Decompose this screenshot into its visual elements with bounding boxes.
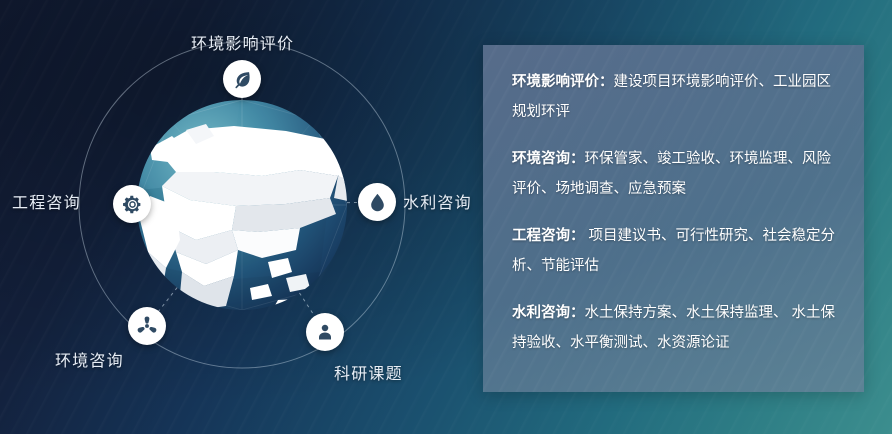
services-description-panel: 环境影响评价：建设项目环境影响评价、工业园区规划环评 环境咨询：环保管家、竣工验… — [483, 45, 864, 392]
service-paragraph-engineering: 工程咨询： 项目建议书、可行性研究、社会稳定分析、节能评估 — [512, 221, 836, 281]
node-research-label: 科研课题 — [334, 360, 403, 384]
service-title-water: 水利咨询： — [512, 305, 585, 321]
fan-icon — [136, 315, 158, 337]
service-paragraph-water: 水利咨询：水土保持方案、水土保持监理、 水土保持验收、水平衡测试、水资源论证 — [512, 298, 836, 358]
node-water-conservancy[interactable] — [358, 183, 396, 221]
gear-icon — [122, 194, 143, 215]
person-icon — [315, 322, 335, 342]
service-title-engineering: 工程咨询： — [512, 228, 585, 244]
node-env-consulting-label: 环境咨询 — [55, 347, 124, 371]
service-paragraph-env-consulting: 环境咨询：环保管家、竣工验收、环境监理、风险评价、场地调查、应急预案 — [512, 144, 836, 204]
hero-banner: 环境影响评价 工程咨询 水利咨询 — [0, 0, 892, 434]
leaf-icon — [232, 69, 253, 90]
node-engineering-label: 工程咨询 — [12, 189, 81, 213]
node-eia[interactable] — [223, 60, 261, 98]
service-title-env-consulting: 环境咨询： — [512, 151, 585, 167]
service-title-eia: 环境影响评价： — [512, 74, 614, 90]
water-drop-icon — [367, 192, 388, 213]
low-poly-globe — [120, 85, 362, 344]
service-circle-diagram: 环境影响评价 工程咨询 水利咨询 — [0, 0, 485, 434]
node-eia-label: 环境影响评价 — [191, 30, 294, 54]
node-engineering[interactable] — [113, 185, 151, 223]
node-research[interactable] — [306, 313, 344, 351]
service-paragraph-eia: 环境影响评价：建设项目环境影响评价、工业园区规划环评 — [512, 67, 836, 127]
node-env-consulting[interactable] — [128, 307, 166, 345]
node-water-conservancy-label: 水利咨询 — [403, 189, 472, 213]
